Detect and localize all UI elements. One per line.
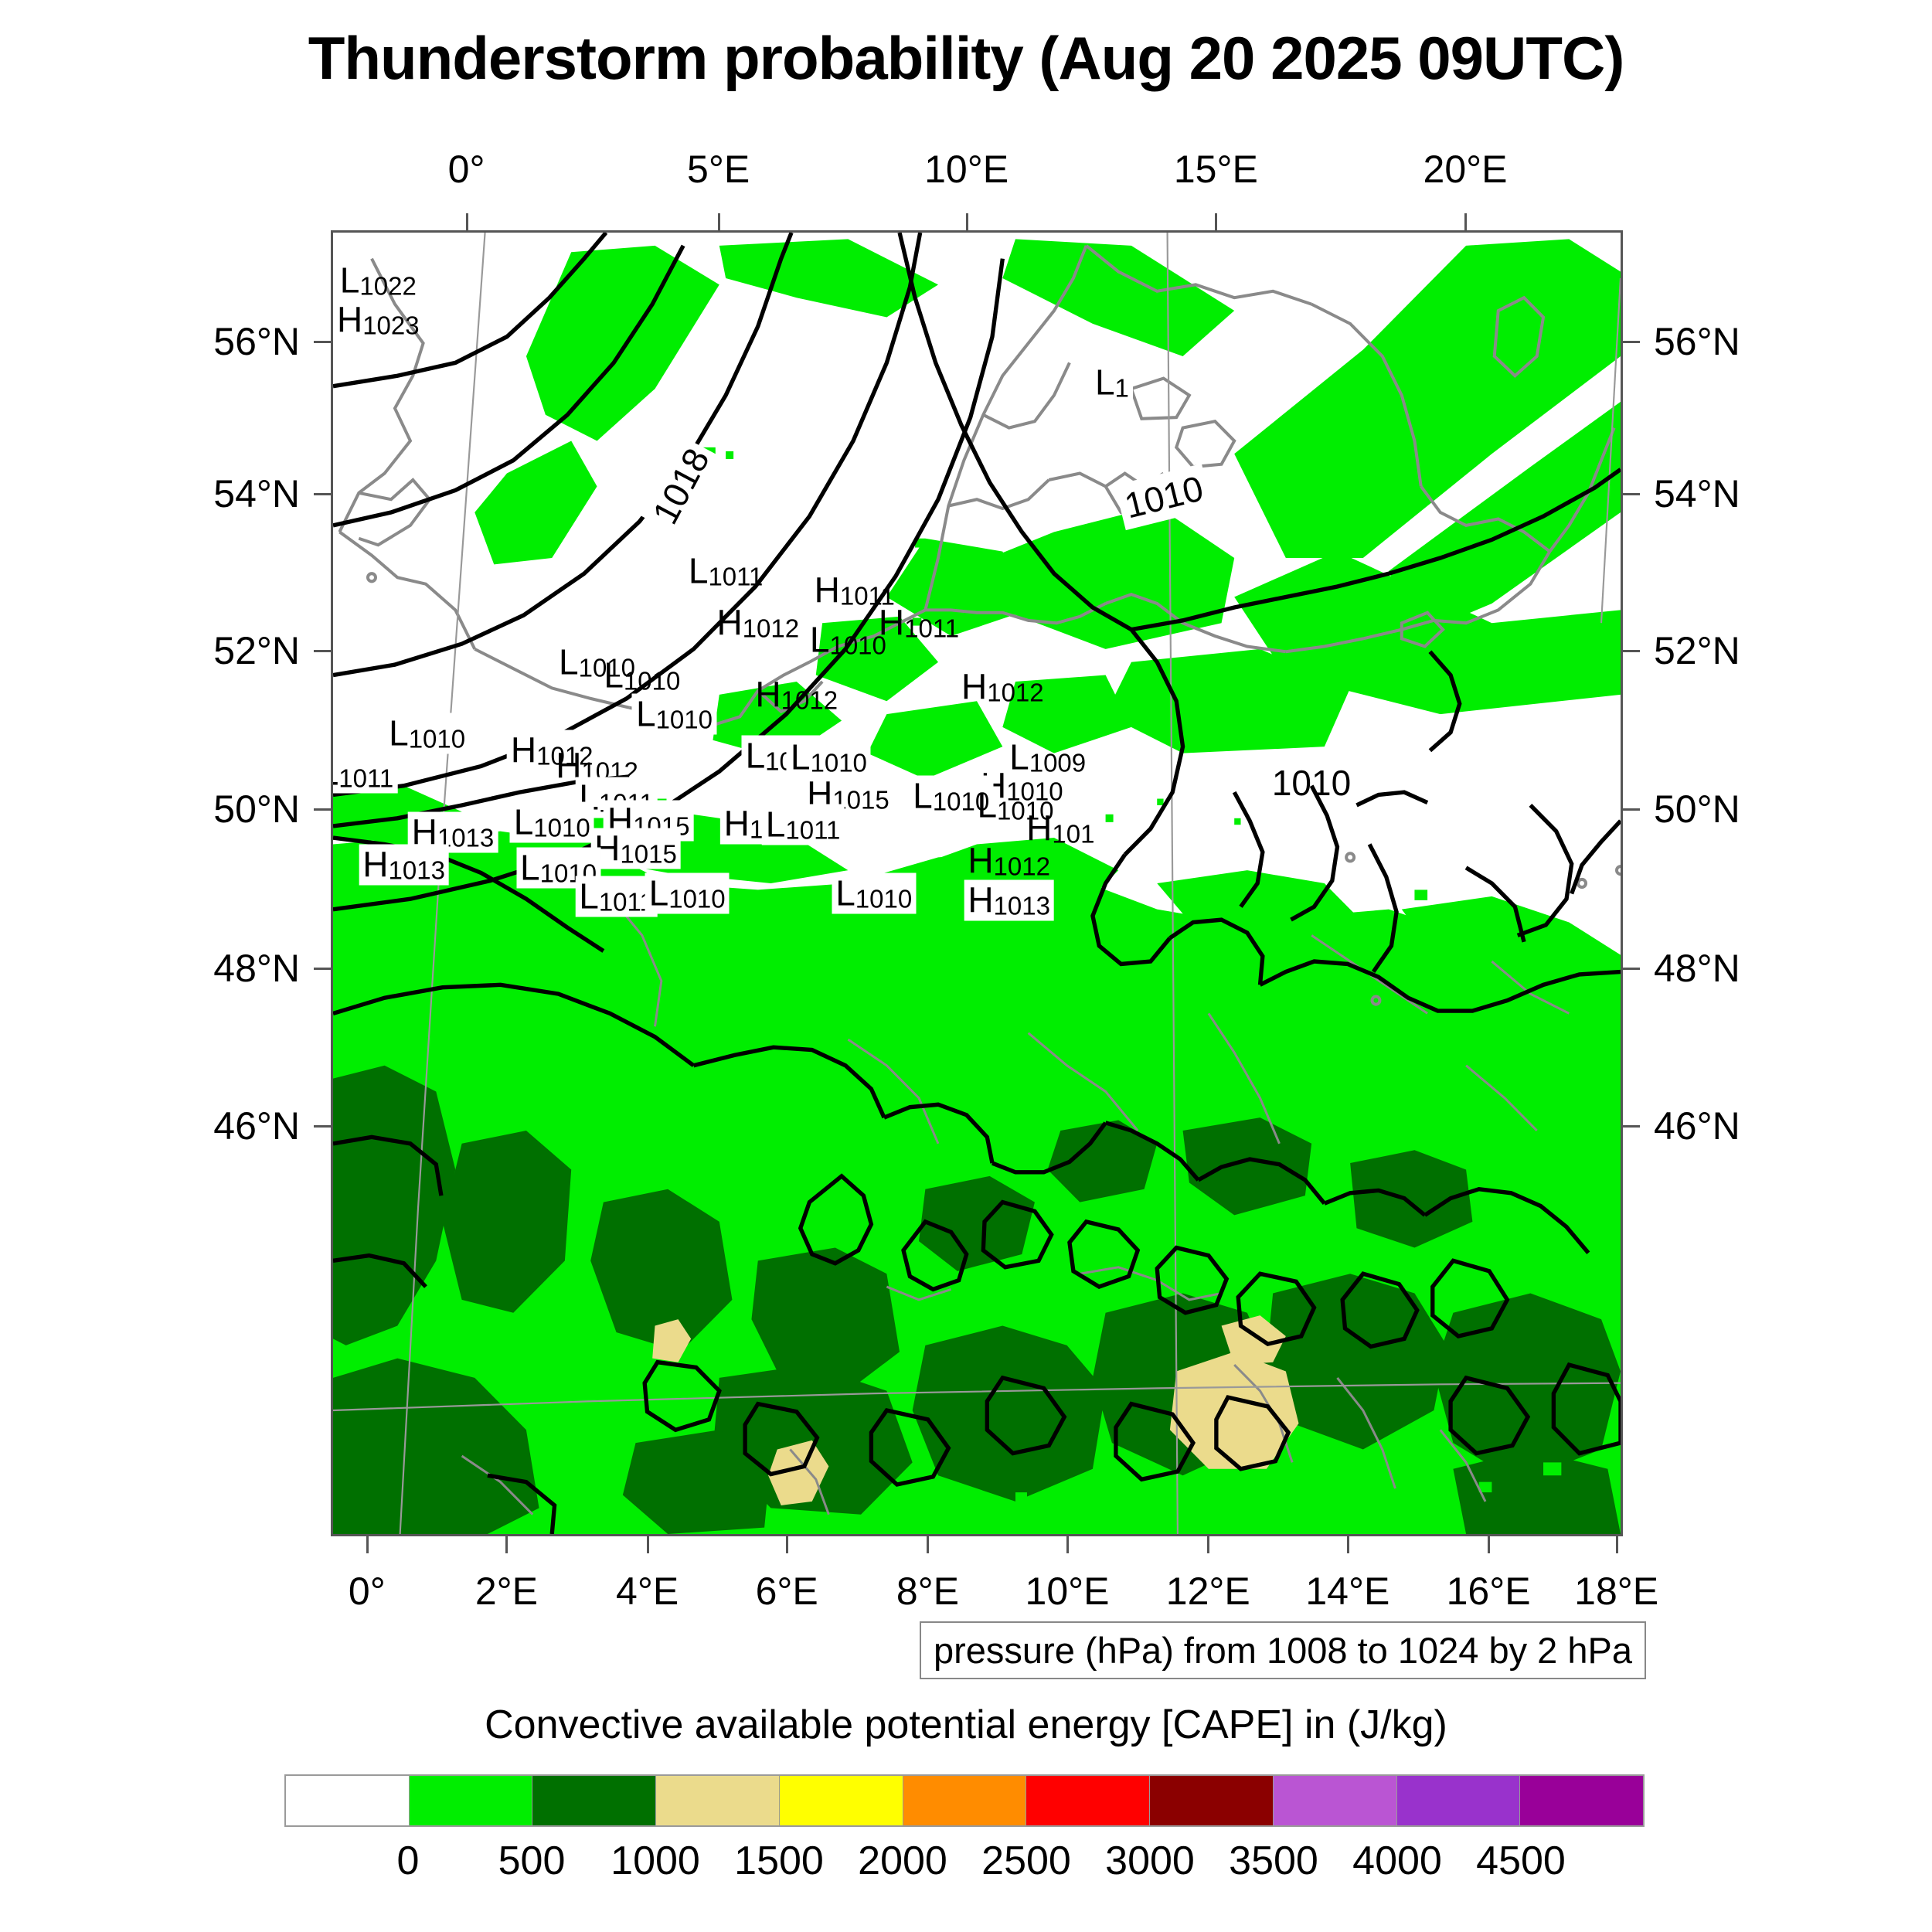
pressure-center-type: L	[649, 873, 669, 913]
axis-tick	[1347, 1536, 1349, 1553]
pressure-center-type: L	[514, 801, 534, 842]
pressure-center-value: 1	[1115, 373, 1129, 402]
pressure-center-l: L1010	[787, 736, 871, 777]
colorbar-tick-4: 2000	[858, 1838, 947, 1884]
axis-tick	[1488, 1536, 1490, 1553]
pressure-center-h: H1012	[716, 605, 799, 641]
pressure-center-type: L	[746, 735, 766, 775]
colorbar-tick-layer: 050010001500200025003000350040004500	[284, 1838, 1645, 1892]
lat-tick-right-2: 52°N	[1654, 628, 1740, 673]
lat-tick-right-0: 56°N	[1654, 319, 1740, 364]
pressure-center-value: 1012	[987, 678, 1043, 706]
pressure-center-l: L1010	[510, 801, 594, 842]
lat-tick-left-1: 54°N	[213, 471, 300, 516]
pressure-center-type: L	[559, 641, 579, 682]
colorbar-swatch-4[interactable]	[780, 1776, 903, 1825]
axis-tick	[505, 1536, 508, 1553]
pressure-center-value: 1012	[994, 852, 1050, 881]
pressure-center-value: 1010	[533, 813, 590, 842]
pressure-center-l: L1011	[689, 553, 764, 589]
axis-tick	[786, 1536, 788, 1553]
colorbar-tick-3: 1500	[734, 1838, 824, 1884]
pressure-center-l: L1011	[762, 804, 845, 845]
pressure-center-value: 1010	[409, 725, 465, 753]
pressure-center-type: L	[835, 873, 855, 913]
lat-tick-right-4: 48°N	[1654, 946, 1740, 991]
colorbar-tick-7: 3500	[1229, 1838, 1318, 1884]
colorbar-tick-0: 0	[397, 1838, 420, 1884]
lon-tick-bottom-6: 12°E	[1166, 1569, 1250, 1614]
pressure-center-type: L	[389, 713, 409, 753]
lat-tick-left-3: 50°N	[213, 787, 300, 832]
pressure-center-l: L1010	[632, 694, 716, 735]
pressure-center-l: L1010	[810, 622, 886, 658]
pressure-center-type: L	[766, 804, 786, 845]
lon-tick-top-2: 10°E	[924, 147, 1009, 192]
pressure-center-value: 1015	[620, 839, 676, 868]
axis-tick	[1623, 341, 1640, 343]
pressure-center-value: 1011	[338, 764, 393, 792]
axis-tick	[1623, 493, 1640, 495]
colorbar-tick-8: 4000	[1352, 1838, 1442, 1884]
lon-tick-top-3: 15°E	[1174, 147, 1258, 192]
pressure-center-type: L	[340, 260, 360, 301]
axis-tick	[314, 1125, 331, 1128]
pressure-center-h: H1013	[359, 845, 449, 886]
pressure-center-value: 1010	[855, 885, 912, 913]
pressure-center-type: H	[724, 803, 750, 843]
axis-tick	[1623, 968, 1640, 970]
pressure-center-value: 1010	[668, 885, 725, 913]
axis-tick	[1616, 1536, 1618, 1553]
axis-tick	[718, 213, 720, 230]
pressure-center-value: 1011	[904, 614, 959, 643]
pressure-center-type: L	[689, 550, 709, 590]
colorbar-swatch-0[interactable]	[286, 1776, 410, 1825]
colorbar-swatch-7[interactable]	[1150, 1776, 1274, 1825]
pressure-center-value: 1022	[359, 272, 416, 301]
axis-tick	[314, 493, 331, 495]
pressure-center-h: H1011	[879, 605, 959, 641]
axis-tick	[1623, 650, 1640, 652]
colorbar-swatch-5[interactable]	[903, 1776, 1027, 1825]
pressure-center-value: 1010	[656, 706, 713, 734]
colorbar-tick-5: 2500	[981, 1838, 1071, 1884]
lat-tick-left-0: 56°N	[213, 319, 300, 364]
lat-tick-right-1: 54°N	[1654, 471, 1740, 516]
lon-tick-bottom-0: 0°	[349, 1569, 386, 1614]
pressure-center-type: H	[755, 674, 781, 714]
colorbar-swatch-1[interactable]	[410, 1776, 533, 1825]
colorbar-swatch-10[interactable]	[1520, 1776, 1643, 1825]
pressure-center-type: L	[913, 776, 933, 816]
pressure-center-value: 1010	[624, 666, 680, 695]
colorbar-swatch-8[interactable]	[1274, 1776, 1397, 1825]
lon-tick-bottom-9: 18°E	[1574, 1569, 1658, 1614]
pressure-contour-caption: pressure (hPa) from 1008 to 1024 by 2 hP…	[920, 1621, 1646, 1679]
pressure-center-l: L1022	[340, 263, 417, 299]
pressure-center-type: H	[511, 730, 536, 770]
colorbar-tick-9: 4500	[1476, 1838, 1566, 1884]
pressure-center-value: 1011	[785, 816, 840, 845]
pressure-center-h: H1013	[964, 879, 1054, 920]
colorbar-swatch-9[interactable]	[1397, 1776, 1521, 1825]
pressure-center-type: L	[810, 620, 830, 660]
pressure-center-l: L1	[1091, 362, 1133, 403]
pressure-center-value: 1011	[708, 562, 763, 590]
pressure-center-type: L	[791, 736, 811, 777]
lon-tick-bottom-5: 10°E	[1026, 1569, 1110, 1614]
colorbar-tick-6: 3000	[1105, 1838, 1195, 1884]
weather-map-figure: Thunderstorm probability (Aug 20 2025 09…	[0, 0, 1932, 1932]
lon-tick-bottom-4: 8°E	[896, 1569, 959, 1614]
lon-tick-top-4: 20°E	[1423, 147, 1508, 192]
lat-tick-left-5: 46°N	[213, 1104, 300, 1148]
pressure-center-l: L1010	[385, 713, 469, 754]
pressure-center-h: H1023	[337, 301, 420, 338]
axis-tick	[1623, 808, 1640, 811]
colorbar-swatch-2[interactable]	[532, 1776, 656, 1825]
pressure-center-value: 1010	[810, 748, 866, 777]
lon-tick-bottom-2: 4°E	[616, 1569, 679, 1614]
pressure-center-type: L	[520, 847, 540, 887]
pressure-center-value: 1012	[781, 685, 838, 714]
axis-tick	[314, 650, 331, 652]
colorbar-title: Convective available potential energy [C…	[0, 1702, 1932, 1748]
pressure-center-type: L	[1095, 362, 1115, 402]
axis-tick	[1066, 1536, 1069, 1553]
lat-tick-right-5: 46°N	[1654, 1104, 1740, 1148]
lon-tick-top-1: 5°E	[687, 147, 750, 192]
pressure-center-h: H1015	[590, 828, 681, 869]
lon-tick-bottom-7: 14°E	[1305, 1569, 1389, 1614]
pressure-center-type: L	[636, 694, 656, 734]
lat-tick-right-3: 50°N	[1654, 787, 1740, 832]
lat-tick-left-4: 48°N	[213, 946, 300, 991]
pressure-center-h: H1012	[961, 668, 1044, 705]
pressure-center-l: L1010	[604, 657, 680, 693]
axis-tick	[466, 213, 468, 230]
colorbar[interactable]	[284, 1774, 1645, 1827]
pressure-center-value: 101	[1052, 820, 1094, 849]
pressure-center-value: 1023	[362, 311, 419, 339]
pressure-center-l: L1010	[832, 873, 916, 914]
axis-tick	[314, 968, 331, 970]
axis-tick	[1215, 213, 1217, 230]
map-plot-area[interactable]: 1018 1010 1010 L1022H1023L1011H1011H1012…	[331, 230, 1623, 1536]
lon-tick-bottom-1: 2°E	[475, 1569, 538, 1614]
pressure-center-type: H	[815, 570, 840, 611]
axis-tick	[647, 1536, 649, 1553]
pressure-center-value: 1013	[389, 856, 445, 885]
pressure-center-h: H1012	[755, 676, 838, 713]
colorbar-swatch-6[interactable]	[1026, 1776, 1150, 1825]
pressure-center-type: L	[604, 655, 624, 695]
axis-tick	[314, 808, 331, 811]
page-title: Thunderstorm probability (Aug 20 2025 09…	[0, 23, 1932, 94]
pressure-center-value: 1010	[829, 631, 886, 660]
axis-tick	[1623, 1125, 1640, 1128]
pressure-center-type: H	[337, 299, 362, 339]
pressure-center-value: 1012	[743, 614, 799, 643]
isobar-label: 1010	[1267, 760, 1356, 806]
pressure-center-h: H1012	[968, 843, 1050, 879]
axis-tick	[1464, 213, 1467, 230]
pressure-center-value: 1013	[994, 891, 1050, 920]
axis-tick	[1207, 1536, 1209, 1553]
pressure-center-h: H101	[1026, 811, 1094, 847]
pressure-center-type: L	[579, 876, 599, 916]
pressure-center-l: L1010	[645, 873, 730, 914]
lon-tick-bottom-8: 16°E	[1447, 1569, 1531, 1614]
pressure-center-type: L	[331, 752, 338, 792]
lon-tick-top-0: 0°	[448, 147, 485, 192]
pressure-center-l: L1011	[331, 752, 397, 793]
colorbar-tick-1: 500	[498, 1838, 566, 1884]
lat-tick-left-2: 52°N	[213, 628, 300, 673]
axis-tick	[927, 1536, 929, 1553]
lon-tick-bottom-3: 6°E	[756, 1569, 818, 1614]
colorbar-swatch-3[interactable]	[656, 1776, 780, 1825]
pressure-center-type: H	[716, 603, 742, 643]
pressure-center-type: H	[968, 879, 993, 920]
pressure-center-type: L	[977, 784, 997, 825]
axis-tick	[966, 213, 968, 230]
pressure-center-type: H	[362, 845, 388, 885]
pressure-center-type: H	[968, 841, 993, 881]
colorbar-tick-2: 1000	[611, 1838, 700, 1884]
axis-tick	[314, 341, 331, 343]
pressure-center-type: H	[961, 666, 987, 706]
axis-tick	[366, 1536, 369, 1553]
pressure-center-type: H	[879, 603, 904, 643]
